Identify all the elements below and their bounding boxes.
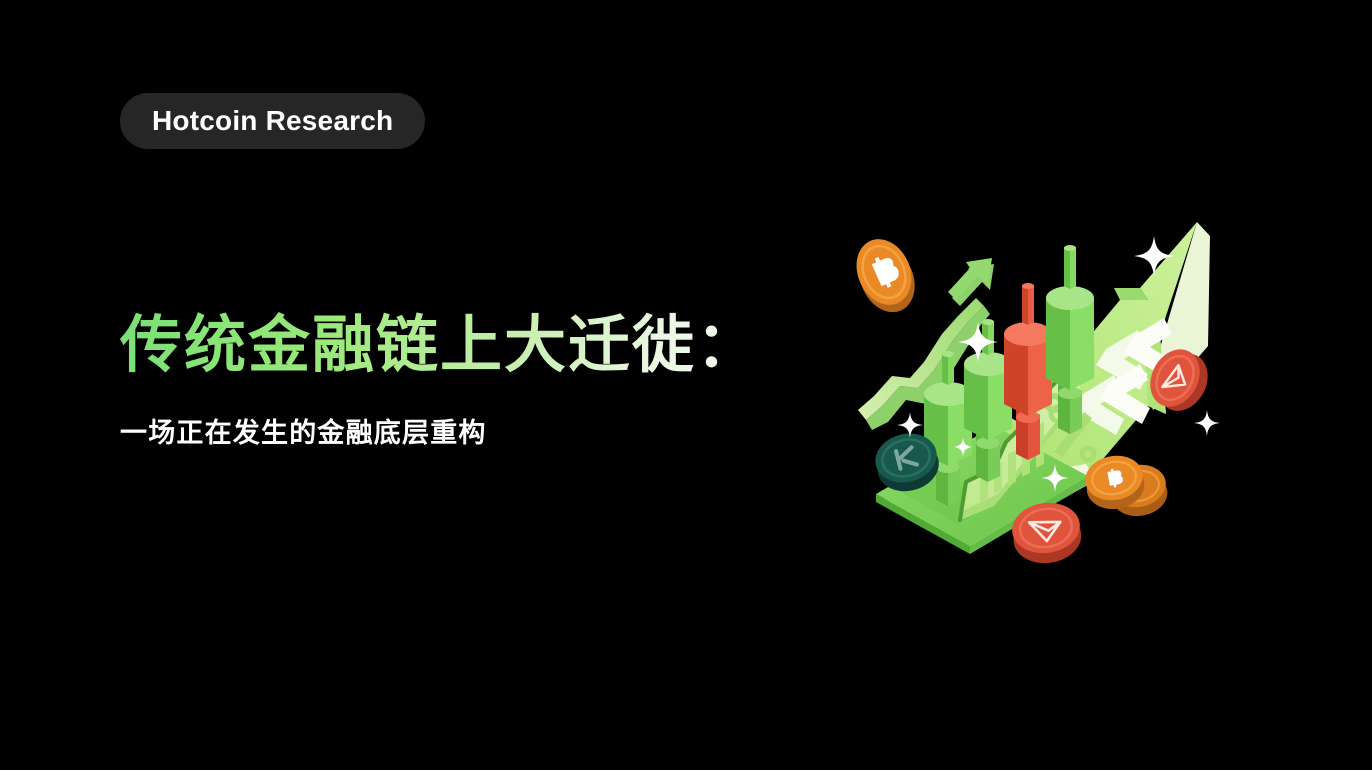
sparkle-right-small <box>1194 410 1220 436</box>
cover-slide: Hotcoin Research 传统金融链上大迁徙： 一场正在发生的金融底层重… <box>0 0 1372 770</box>
sparkle-small-left <box>897 412 923 438</box>
hero-illustration <box>848 214 1232 580</box>
page-title: 传统金融链上大迁徙： <box>120 310 760 382</box>
bitcoin-coin-top-left <box>848 230 925 321</box>
brand-badge-label: Hotcoin Research <box>152 107 393 135</box>
brand-badge[interactable]: Hotcoin Research <box>120 93 425 149</box>
page-subtitle: 一场正在发生的金融底层重构 <box>120 417 487 451</box>
